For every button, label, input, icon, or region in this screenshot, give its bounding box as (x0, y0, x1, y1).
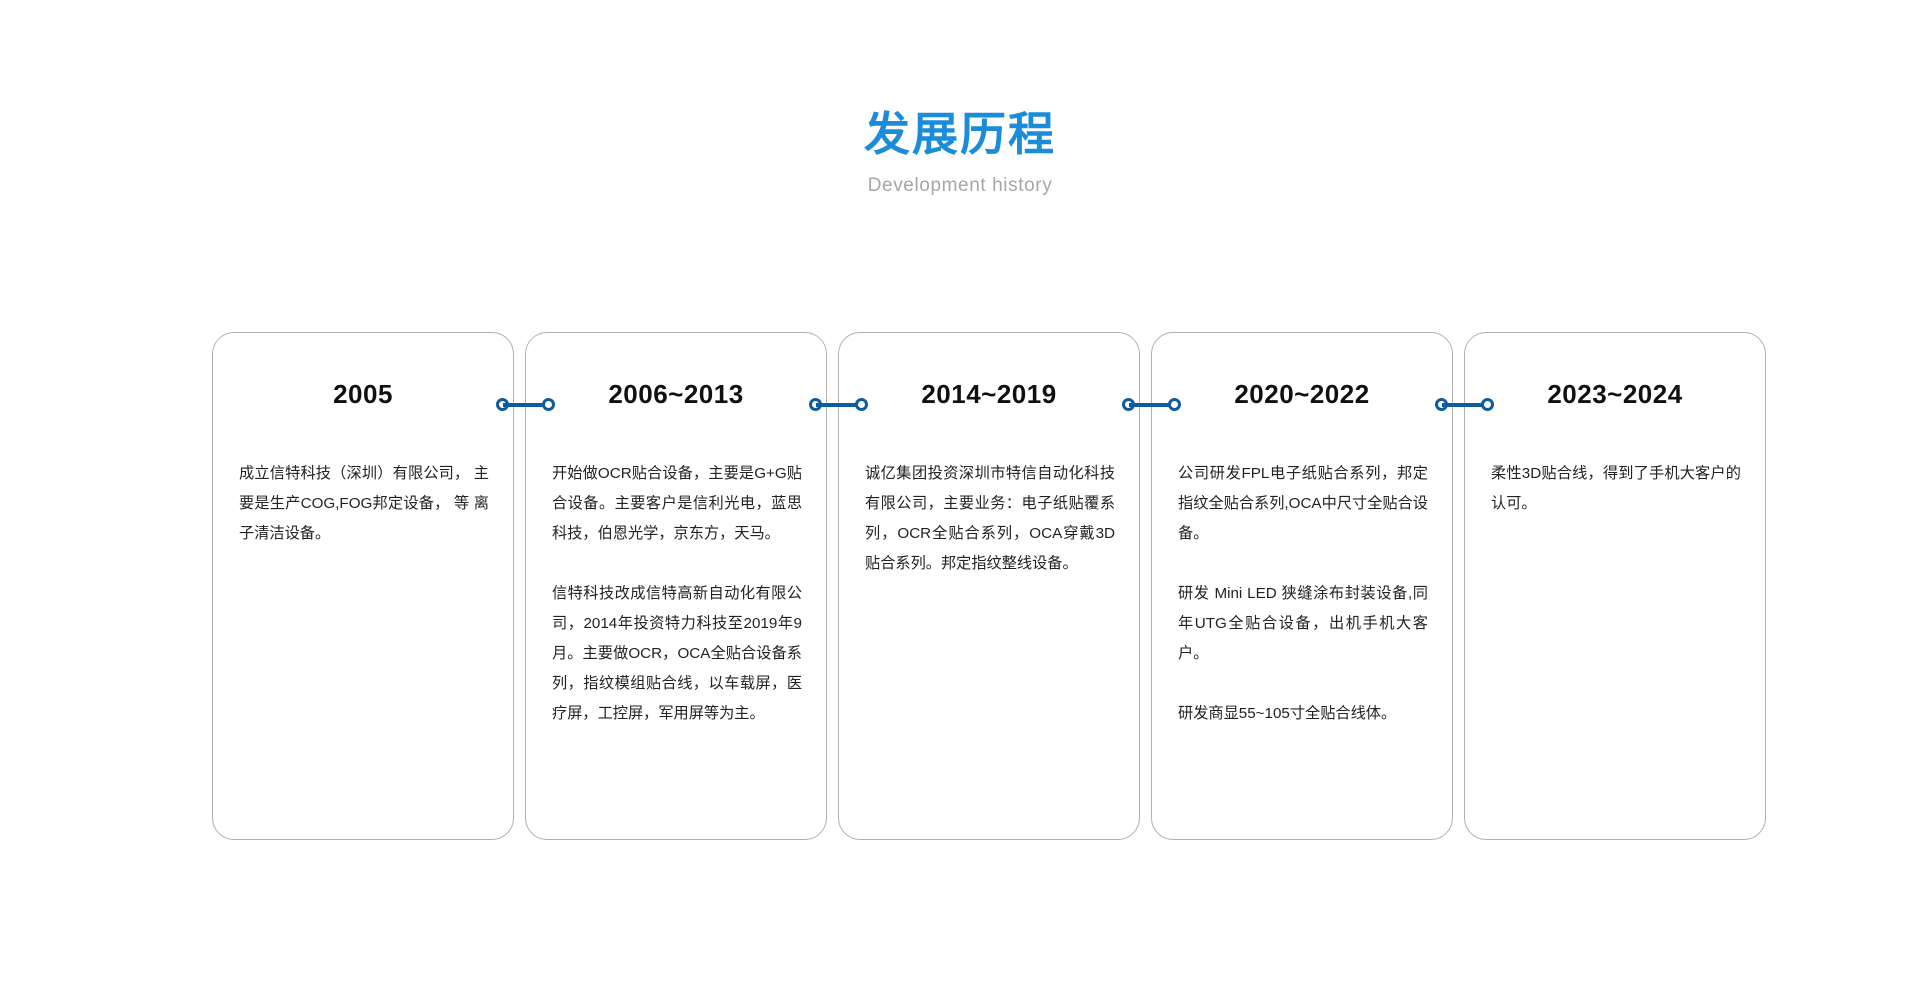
timeline-card-paragraph: 诚亿集团投资深圳市特信自动化科技有限公司，主要业务：电子纸贴覆系列，OCR全贴合… (865, 459, 1115, 579)
timeline-card-paragraph: 研发 Mini LED 狭缝涂布封装设备,同年UTG全贴合设备，出机手机大客户。 (1178, 579, 1428, 669)
timeline-card-year: 2014~2019 (839, 379, 1139, 410)
timeline-card-year: 2020~2022 (1152, 379, 1452, 410)
development-history-page: 发展历程 Development history 2005 成立信特科技（深圳）… (0, 0, 1920, 1000)
timeline-card-paragraph: 研发商显55~105寸全贴合线体。 (1178, 699, 1428, 729)
page-title: 发展历程 (0, 108, 1920, 161)
timeline-card-2020-2022[interactable]: 2020~2022 公司研发FPL电子纸贴合系列，邦定指纹全贴合系列,OCA中尺… (1151, 332, 1453, 840)
timeline-card-paragraph: 信特科技改成信特高新自动化有限公司，2014年投资特力科技至2019年9月。主要… (552, 579, 802, 729)
timeline-card-year: 2005 (213, 379, 513, 410)
timeline-card-year: 2006~2013 (526, 379, 826, 410)
timeline-card-2023-2024[interactable]: 2023~2024 柔性3D贴合线，得到了手机大客户的认可。 (1464, 332, 1766, 840)
page-subtitle: Development history (0, 175, 1920, 197)
timeline-card-paragraph: 开始做OCR贴合设备，主要是G+G贴合设备。主要客户是信利光电，蓝思科技，伯恩光… (552, 459, 802, 549)
timeline-card-body: 公司研发FPL电子纸贴合系列，邦定指纹全贴合系列,OCA中尺寸全贴合设备。 研发… (1178, 459, 1428, 821)
timeline-card-year: 2023~2024 (1465, 379, 1765, 410)
timeline-card-body: 开始做OCR贴合设备，主要是G+G贴合设备。主要客户是信利光电，蓝思科技，伯恩光… (552, 459, 802, 821)
timeline-card-paragraph: 成立信特科技（深圳）有限公司， 主要是生产COG,FOG邦定设备， 等 离子清洁… (239, 459, 489, 549)
timeline-card-body: 成立信特科技（深圳）有限公司， 主要是生产COG,FOG邦定设备， 等 离子清洁… (239, 459, 489, 821)
timeline-card-2006-2013[interactable]: 2006~2013 开始做OCR贴合设备，主要是G+G贴合设备。主要客户是信利光… (525, 332, 827, 840)
timeline-card-2014-2019[interactable]: 2014~2019 诚亿集团投资深圳市特信自动化科技有限公司，主要业务：电子纸贴… (838, 332, 1140, 840)
timeline: 2005 成立信特科技（深圳）有限公司， 主要是生产COG,FOG邦定设备， 等… (212, 332, 1766, 840)
timeline-card-paragraph: 柔性3D贴合线，得到了手机大客户的认可。 (1491, 459, 1741, 519)
timeline-card-body: 柔性3D贴合线，得到了手机大客户的认可。 (1491, 459, 1741, 821)
timeline-card-body: 诚亿集团投资深圳市特信自动化科技有限公司，主要业务：电子纸贴覆系列，OCR全贴合… (865, 459, 1115, 821)
page-header: 发展历程 Development history (0, 108, 1920, 197)
timeline-card-paragraph: 公司研发FPL电子纸贴合系列，邦定指纹全贴合系列,OCA中尺寸全贴合设备。 (1178, 459, 1428, 549)
timeline-card-2005[interactable]: 2005 成立信特科技（深圳）有限公司， 主要是生产COG,FOG邦定设备， 等… (212, 332, 514, 840)
